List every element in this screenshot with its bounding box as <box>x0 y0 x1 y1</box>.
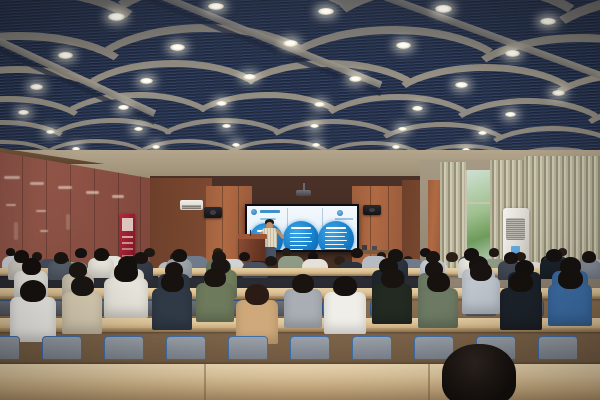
ceiling-downlight <box>216 101 227 106</box>
wall-light-reflection <box>4 176 20 179</box>
ceiling-downlight <box>318 8 334 15</box>
ceiling-downlight <box>505 50 520 57</box>
audience-chair[interactable] <box>228 336 268 360</box>
ceiling-downlight <box>310 124 319 128</box>
audience-member <box>500 272 542 330</box>
audience-member-torso <box>152 288 192 330</box>
wall-light-reflection <box>6 204 16 206</box>
ceiling-downlight <box>140 78 153 84</box>
slide-bubble-2 <box>283 221 319 250</box>
audience-member-head <box>245 284 269 305</box>
ceiling-shading <box>0 0 600 172</box>
audience-member <box>418 272 458 328</box>
audience-member-torso <box>324 292 366 334</box>
audience-member <box>462 262 500 314</box>
ceiling-downlight <box>46 130 55 134</box>
audience-member-torso <box>500 288 542 330</box>
ceiling-downlight <box>505 112 516 117</box>
desk-row-1-seam <box>204 364 206 400</box>
audience-member-head <box>204 268 226 287</box>
lectern-top <box>238 234 267 239</box>
audience-member-head <box>509 272 533 292</box>
audience-member-head <box>22 258 41 275</box>
ceiling-downlight <box>478 131 487 135</box>
audience-chair[interactable] <box>104 336 144 360</box>
ceiling-downlight <box>30 84 43 90</box>
audience-member-head <box>114 262 138 282</box>
audience-member-torso <box>104 278 148 318</box>
desk-row-1-seam <box>428 364 430 400</box>
audience-member <box>548 268 592 326</box>
audience-member-torso <box>548 284 592 326</box>
ceiling-downlight <box>243 74 256 80</box>
audience-member <box>62 276 102 334</box>
audience-member-head <box>282 248 291 256</box>
ceiling-downlight <box>435 5 452 13</box>
audience-member <box>152 272 192 330</box>
wall-light-reflection <box>40 230 48 232</box>
ceiling-downlight <box>108 13 125 21</box>
audience-member <box>10 280 56 342</box>
audience-member <box>372 268 412 324</box>
slide-title-line <box>260 210 280 213</box>
foreground-person <box>432 344 524 400</box>
lecture-hall-photo <box>0 0 600 400</box>
audience-member <box>196 268 234 322</box>
wall-light-reflection <box>58 186 72 189</box>
audience-member-head <box>94 248 109 261</box>
window-mullion <box>466 202 490 204</box>
wall-light-reflection <box>30 182 44 185</box>
wall-light-reflection <box>36 210 46 212</box>
lectern-mic <box>250 230 251 236</box>
side-table-item <box>362 245 367 250</box>
audience-member-head <box>470 262 492 281</box>
audience-member <box>104 262 148 318</box>
wall-light-reflection <box>66 214 70 230</box>
audience-member-torso <box>196 283 234 322</box>
audience-member <box>284 274 322 328</box>
audience-member <box>236 284 278 344</box>
audience-member-head <box>292 274 314 293</box>
ceiling-downlight <box>58 52 73 59</box>
audience-member <box>324 276 366 334</box>
ceiling-downlight <box>208 3 224 10</box>
ac-vent-grille <box>506 218 525 240</box>
ceiling-downlight <box>312 143 320 147</box>
wall-air-conditioner <box>180 200 203 210</box>
ceiling-downlight <box>398 127 407 131</box>
ceiling-downlight <box>170 44 185 51</box>
audience-chair[interactable] <box>0 336 20 360</box>
ceiling-downlight <box>552 90 565 96</box>
ceiling-downlight <box>283 40 298 47</box>
audience-member-head <box>20 280 46 302</box>
ceiling-downlight <box>455 82 468 88</box>
ceiling-downlight <box>396 42 411 49</box>
audience-chair[interactable] <box>42 336 82 360</box>
audience-chair[interactable] <box>290 336 330 360</box>
audience-member-head <box>351 248 363 258</box>
wall-speaker-left <box>204 207 222 218</box>
ceiling-downlight <box>222 124 231 128</box>
audience-member-head <box>265 256 277 266</box>
conference-logo-icon <box>251 209 257 215</box>
audience-chair[interactable] <box>538 336 578 360</box>
organization-name-line <box>335 218 353 220</box>
audience-member-head <box>71 276 94 296</box>
ceiling-downlight <box>540 18 556 25</box>
audience-member-torso <box>284 289 322 328</box>
audience-member-torso <box>62 292 102 334</box>
wall-light-reflection <box>14 222 18 240</box>
audience-member-head <box>558 268 583 289</box>
ceiling-downlight <box>152 145 160 149</box>
audience-member-torso <box>462 277 500 314</box>
wall-speaker-right <box>363 205 381 215</box>
ceiling-downlight <box>134 127 143 131</box>
ceiling-downlight <box>412 106 423 111</box>
wall-light-reflection <box>112 195 124 198</box>
side-table-item <box>372 246 377 250</box>
audience-chair[interactable] <box>166 336 206 360</box>
ceiling-downlight <box>18 110 29 115</box>
audience-member-head <box>381 268 404 288</box>
ceiling-downlight <box>232 143 240 147</box>
audience-member-head <box>333 276 357 296</box>
ceiling-projector <box>296 190 311 196</box>
ceiling-downlight <box>314 102 325 107</box>
audience-member-head <box>172 249 187 262</box>
audience-member-head <box>75 248 87 258</box>
audience-chair[interactable] <box>352 336 392 360</box>
organization-logo-icon <box>337 210 343 216</box>
ceiling-downlight <box>392 145 400 149</box>
ceiling-downlight <box>349 76 362 82</box>
slide-bubble-3 <box>318 221 354 250</box>
foreground-person-head <box>442 344 516 400</box>
audience-member-head <box>161 272 184 292</box>
audience-member-torso <box>372 284 412 324</box>
wall-light-reflection <box>86 191 99 194</box>
vaulted-ceiling <box>0 0 600 172</box>
audience-member-head <box>427 272 450 292</box>
audience-member-torso <box>418 288 458 328</box>
ceiling-downlight <box>118 105 129 110</box>
